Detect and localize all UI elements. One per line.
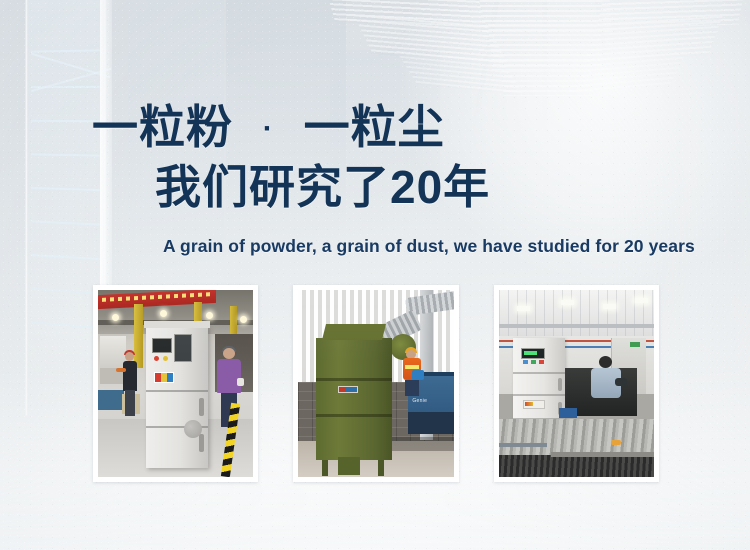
headline-subtitle: A grain of powder, a grain of dust, we h… [163, 236, 750, 257]
photo-image-3 [499, 290, 654, 477]
photo-2-worker-highvis [402, 348, 424, 396]
photo-image-2: Genie [298, 290, 453, 477]
photo-2-lift-label: Genie [412, 398, 427, 404]
photo-2-dust-collector [316, 338, 392, 460]
photo-card-3[interactable] [494, 285, 659, 482]
photo-1-dust-collector [146, 326, 208, 468]
headline-block: 一粒粉 · 一粒尘 我们研究了20年 A grain of powder, a … [0, 104, 750, 257]
photo-strip: Genie [93, 285, 659, 482]
headline-line-1-part-1: 一粒粉 [92, 101, 233, 153]
headline-separator-dot: · [263, 112, 274, 145]
photo-card-1[interactable] [93, 285, 258, 482]
photo-card-2[interactable]: Genie [293, 285, 458, 482]
photo-3-steel-tubes [499, 419, 654, 477]
photo-3-worker [591, 356, 621, 412]
photo-3-exit-sign [630, 342, 640, 347]
headline-line-1-part-2: 一粒尘 [304, 101, 445, 153]
headline-line-1: 一粒粉 · 一粒尘 [92, 104, 750, 150]
photo-1-worker-left [122, 352, 138, 418]
photo-image-1 [98, 290, 253, 477]
headline-line-2: 我们研究了20年 [155, 164, 750, 210]
hero-banner: 一粒粉 · 一粒尘 我们研究了20年 A grain of powder, a … [0, 0, 750, 550]
